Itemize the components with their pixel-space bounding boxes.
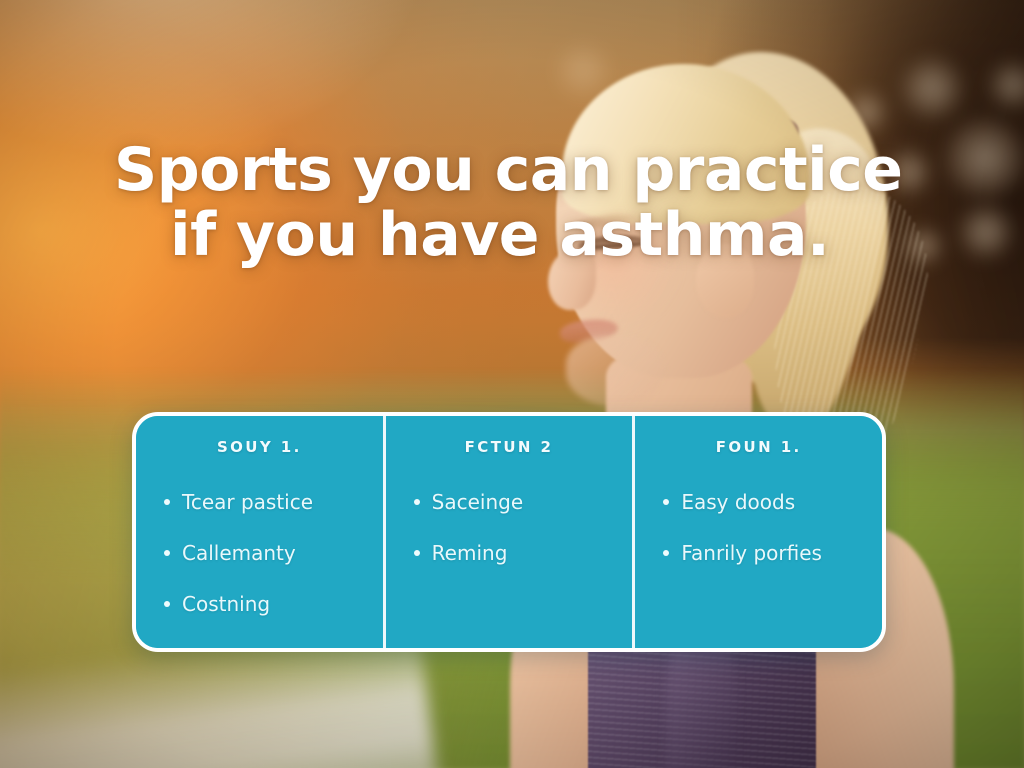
list-item-label: Tcear pastice: [182, 490, 313, 514]
list-item: Tcear pastice: [182, 490, 363, 515]
headline-line-2: if you have asthma.: [92, 203, 932, 268]
list-item-label: Easy doods: [681, 490, 795, 514]
bullet-icon: [663, 499, 669, 505]
info-card-3[interactable]: FOUN 1. Easy doods Fanrily porfies: [632, 416, 882, 648]
list-item-label: Reming: [432, 541, 508, 565]
info-card-1[interactable]: SOUY 1. Tcear pastice Callemanty Costnin…: [136, 416, 383, 648]
list-item-label: Saceinge: [432, 490, 523, 514]
bullet-icon: [663, 550, 669, 556]
page-title: Sports you can practice if you have asth…: [0, 138, 1024, 268]
card-title: FOUN 1.: [655, 438, 862, 456]
card-bullet-list: Easy doods Fanrily porfies: [655, 490, 862, 566]
bullet-icon: [164, 550, 170, 556]
list-item: Saceinge: [432, 490, 613, 515]
bullet-icon: [164, 499, 170, 505]
bullet-icon: [164, 601, 170, 607]
card-title: SOUY 1.: [156, 438, 363, 456]
list-item: Easy doods: [681, 490, 862, 515]
info-card-panel: SOUY 1. Tcear pastice Callemanty Costnin…: [132, 412, 886, 652]
list-item: Fanrily porfies: [681, 541, 862, 566]
list-item-label: Costning: [182, 592, 270, 616]
card-title: FCTUN 2: [406, 438, 613, 456]
bullet-icon: [414, 550, 420, 556]
list-item: Reming: [432, 541, 613, 566]
list-item: Costning: [182, 592, 363, 617]
card-bullet-list: Tcear pastice Callemanty Costning: [156, 490, 363, 617]
list-item: Callemanty: [182, 541, 363, 566]
list-item-label: Fanrily porfies: [681, 541, 822, 565]
poster-canvas: Sports you can practice if you have asth…: [0, 0, 1024, 768]
headline-line-1: Sports you can practice: [92, 138, 932, 203]
bullet-icon: [414, 499, 420, 505]
vignette: [0, 0, 1024, 768]
card-bullet-list: Saceinge Reming: [406, 490, 613, 566]
info-card-2[interactable]: FCTUN 2 Saceinge Reming: [383, 416, 633, 648]
list-item-label: Callemanty: [182, 541, 296, 565]
